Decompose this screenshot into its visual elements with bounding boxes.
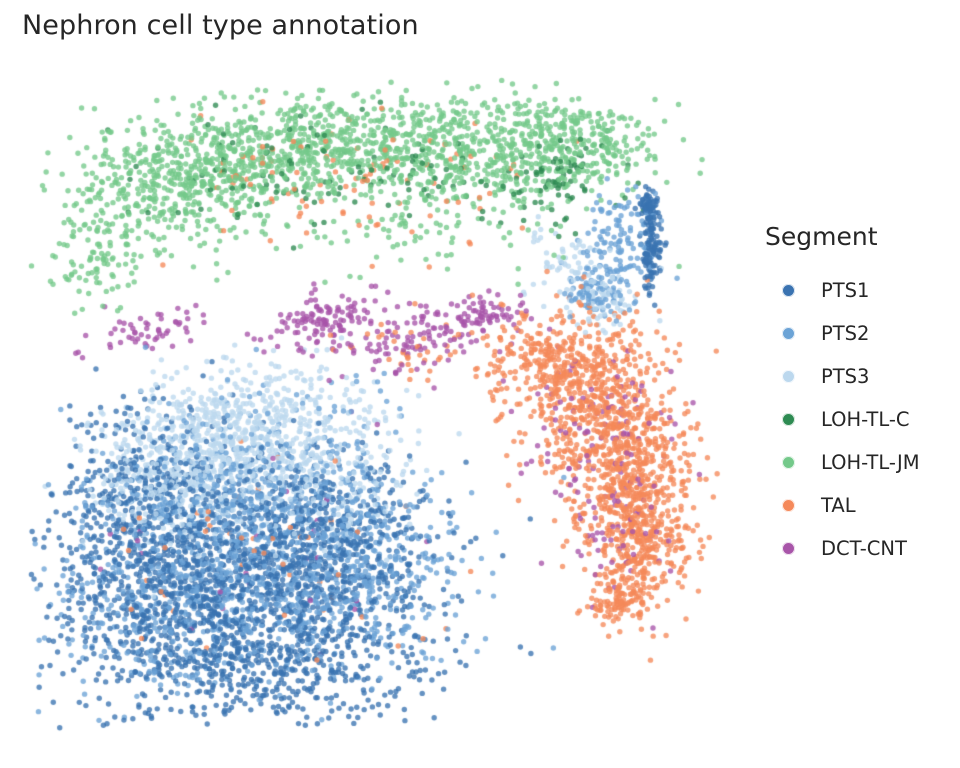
legend-item-label: TAL — [821, 496, 856, 516]
legend: Segment PTS1PTS2PTS3LOH-TL-CLOH-TL-JMTAL… — [763, 222, 953, 570]
legend-swatch-icon — [782, 542, 795, 555]
legend-swatch-icon — [782, 327, 795, 340]
legend-item-label: PTS1 — [821, 281, 869, 301]
legend-item-pts3[interactable]: PTS3 — [763, 355, 953, 398]
legend-item-loh-tl-jm[interactable]: LOH-TL-JM — [763, 441, 953, 484]
legend-title: Segment — [765, 222, 953, 251]
legend-item-pts2[interactable]: PTS2 — [763, 312, 953, 355]
legend-item-pts1[interactable]: PTS1 — [763, 269, 953, 312]
legend-item-loh-tl-c[interactable]: LOH-TL-C — [763, 398, 953, 441]
legend-swatch-icon — [782, 456, 795, 469]
legend-swatch-icon — [782, 370, 795, 383]
legend-items: PTS1PTS2PTS3LOH-TL-CLOH-TL-JMTALDCT-CNT — [763, 269, 953, 570]
legend-item-label: DCT-CNT — [821, 539, 907, 559]
legend-swatch-icon — [782, 499, 795, 512]
legend-item-label: LOH-TL-JM — [821, 453, 920, 473]
legend-item-tal[interactable]: TAL — [763, 484, 953, 527]
legend-swatch-icon — [782, 284, 795, 297]
legend-item-label: LOH-TL-C — [821, 410, 910, 430]
legend-swatch-icon — [782, 413, 795, 426]
legend-item-label: PTS2 — [821, 324, 869, 344]
legend-item-label: PTS3 — [821, 367, 869, 387]
legend-item-dct-cnt[interactable]: DCT-CNT — [763, 527, 953, 570]
figure-root: Nephron cell type annotation Segment PTS… — [0, 0, 960, 768]
